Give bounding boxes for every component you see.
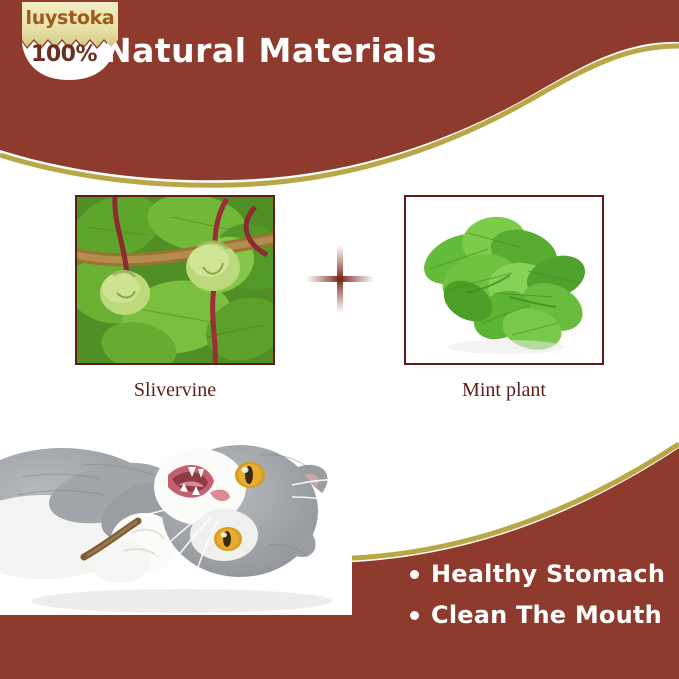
plus-icon: [304, 243, 376, 315]
ingredient-card-slivervine: Slivervine: [75, 195, 277, 402]
product-infographic: luystoka 100% Natural Materials: [0, 0, 679, 679]
benefit-item: Healthy Stomach: [410, 560, 665, 588]
page-title: Natural Materials: [104, 31, 437, 70]
slivervine-gall-1: [100, 271, 150, 315]
cat-photo-illustration: [0, 415, 352, 615]
benefits-list: Healthy Stomach Clean The Mouth: [410, 560, 665, 642]
cat-eye-lower: [214, 527, 242, 551]
mint-image-frame: [404, 195, 604, 365]
badge-top-half: [22, 2, 118, 47]
ingredient-card-mint: Mint plant: [404, 195, 606, 402]
benefit-label: Clean The Mouth: [431, 601, 662, 629]
brand-badge-shape: [14, 2, 126, 80]
plus-icon-shape: [304, 243, 376, 315]
ingredient-caption: Mint plant: [402, 379, 606, 402]
cat-eye-upper: [235, 462, 265, 488]
ingredients-section: Slivervine: [0, 195, 679, 410]
slivervine-image-frame: [75, 195, 275, 365]
cat-photo: [0, 415, 352, 615]
mint-plant-image: [406, 197, 602, 363]
bullet-dot-icon: [410, 611, 419, 620]
bullet-dot-icon: [410, 570, 419, 579]
slivervine-plant-image: [77, 197, 273, 363]
benefit-label: Healthy Stomach: [431, 560, 665, 588]
ingredient-caption: Slivervine: [73, 379, 277, 402]
brand-logo-badge: luystoka 100%: [14, 2, 126, 80]
benefit-item: Clean The Mouth: [410, 601, 665, 629]
